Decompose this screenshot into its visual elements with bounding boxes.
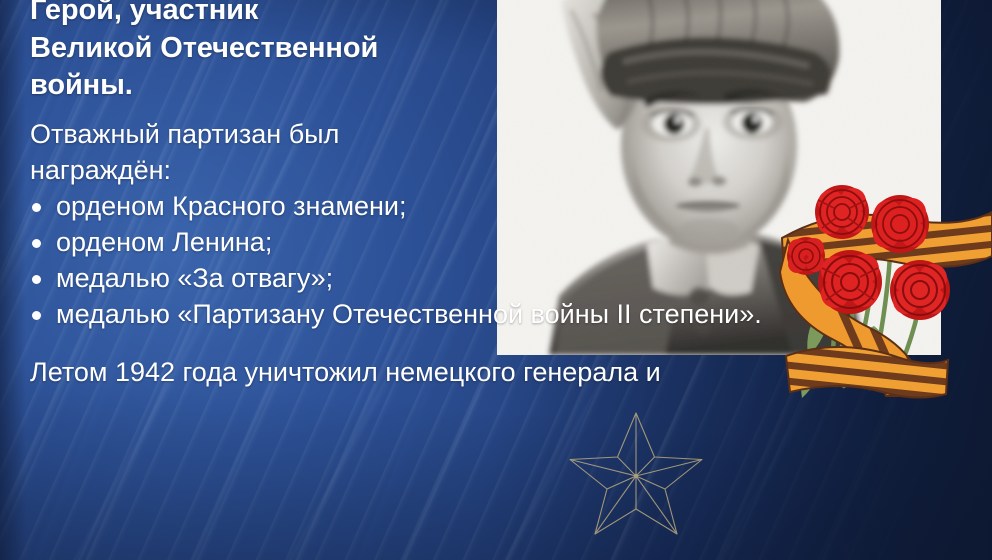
award-text: медалью «За отвагу»; bbox=[56, 263, 333, 293]
awards-list: орденом Красного знамени; орденом Ленина… bbox=[30, 189, 930, 333]
award-item: медалью «За отвагу»; bbox=[30, 261, 930, 297]
background-left-shadow bbox=[0, 0, 26, 560]
award-text: орденом Ленина; bbox=[56, 227, 272, 257]
slide-text-column: Герой, участник Великой Отечественной во… bbox=[30, 0, 500, 390]
slide-headline: Герой, участник Великой Отечественной во… bbox=[30, 0, 500, 105]
award-item: орденом Ленина; bbox=[30, 225, 930, 261]
five-pointed-star-icon bbox=[566, 410, 706, 536]
award-text: медалью «Партизану Отечественной войны I… bbox=[56, 299, 762, 329]
intro-line-2: награждён: bbox=[30, 153, 500, 189]
headline-line-3: войны. bbox=[30, 67, 500, 105]
headline-line-1: Герой, участник bbox=[30, 0, 500, 30]
closing-paragraph: Летом 1942 года уничтожил немецкого гене… bbox=[30, 355, 500, 391]
headline-line-2: Великой Отечественной bbox=[30, 30, 500, 68]
presentation-slide: Герой, участник Великой Отечественной во… bbox=[0, 0, 992, 560]
award-text: орденом Красного знамени; bbox=[56, 191, 407, 221]
intro-line-1: Отважный партизан был bbox=[30, 117, 500, 153]
award-item: медалью «Партизану Отечественной войны I… bbox=[30, 297, 901, 333]
award-item: орденом Красного знамени; bbox=[30, 189, 496, 225]
